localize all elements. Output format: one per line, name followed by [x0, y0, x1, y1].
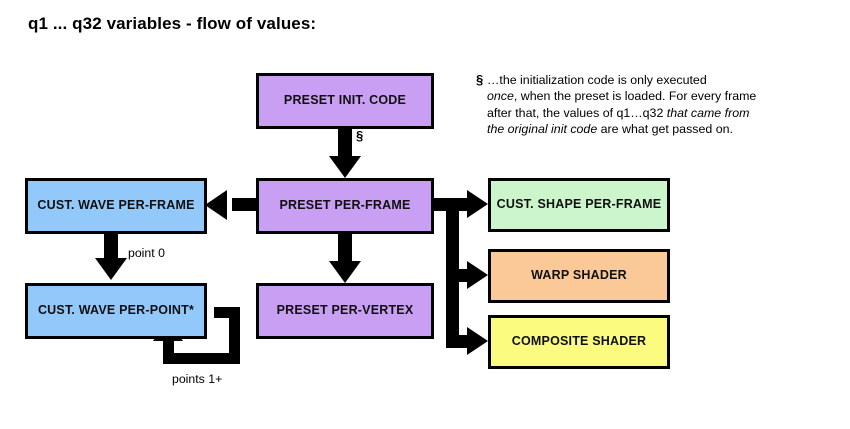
edge-label-point-0: point 0 — [128, 246, 165, 260]
node-label: PRESET PER-VERTEX — [277, 304, 414, 318]
arrow-custwave-to-custpoint-shaft — [104, 233, 118, 261]
node-preset-init-code[interactable]: PRESET INIT. CODE — [256, 73, 434, 129]
section-mark-edge-label: § — [356, 128, 363, 143]
bus-branch-composite-head — [467, 327, 488, 355]
note-line-1: …the initialization code is only execute… — [487, 72, 817, 88]
node-label: PRESET INIT. CODE — [284, 94, 406, 108]
node-preset-per-vertex[interactable]: PRESET PER-VERTEX — [256, 283, 434, 339]
arrow-perframe-to-custwave-head — [205, 190, 227, 220]
loop-segment-bottom — [163, 353, 240, 364]
section-mark-icon: § — [476, 72, 483, 88]
arrow-perframe-to-pervertex-head — [329, 261, 361, 283]
flow-diagram: q1 ... q32 variables - flow of values: §… — [0, 0, 850, 429]
node-label: PRESET PER-FRAME — [280, 199, 411, 213]
node-composite-shader[interactable]: COMPOSITE SHADER — [488, 315, 670, 369]
footnote-note: § …the initialization code is only execu… — [487, 72, 817, 138]
note-line-2: once, when the preset is loaded. For eve… — [487, 88, 817, 104]
loop-segment-up — [163, 340, 174, 364]
note-line-3: after that, the values of q1…q32 that ca… — [487, 105, 817, 121]
node-label: CUST. SHAPE PER-FRAME — [497, 198, 662, 212]
page-title: q1 ... q32 variables - flow of values: — [28, 14, 316, 34]
note-line-4: the original init code are what get pass… — [487, 121, 817, 137]
arrow-custwave-to-custpoint-head — [95, 258, 127, 280]
node-label: COMPOSITE SHADER — [512, 335, 646, 349]
arrow-init-to-perframe-head — [329, 156, 361, 178]
node-label: WARP SHADER — [531, 269, 627, 283]
node-cust-wave-per-frame[interactable]: CUST. WAVE PER-FRAME — [25, 178, 207, 234]
bus-branch-shape-head — [467, 190, 488, 218]
node-cust-wave-per-point[interactable]: CUST. WAVE PER-POINT* — [25, 283, 207, 339]
node-preset-per-frame[interactable]: PRESET PER-FRAME — [256, 178, 434, 234]
node-label: CUST. WAVE PER-POINT* — [38, 304, 194, 318]
node-label: CUST. WAVE PER-FRAME — [37, 199, 194, 213]
node-warp-shader[interactable]: WARP SHADER — [488, 249, 670, 303]
bus-branch-warp-head — [467, 261, 488, 289]
edge-label-points-1-plus: points 1+ — [172, 372, 222, 386]
node-cust-shape-per-frame[interactable]: CUST. SHAPE PER-FRAME — [488, 178, 670, 232]
